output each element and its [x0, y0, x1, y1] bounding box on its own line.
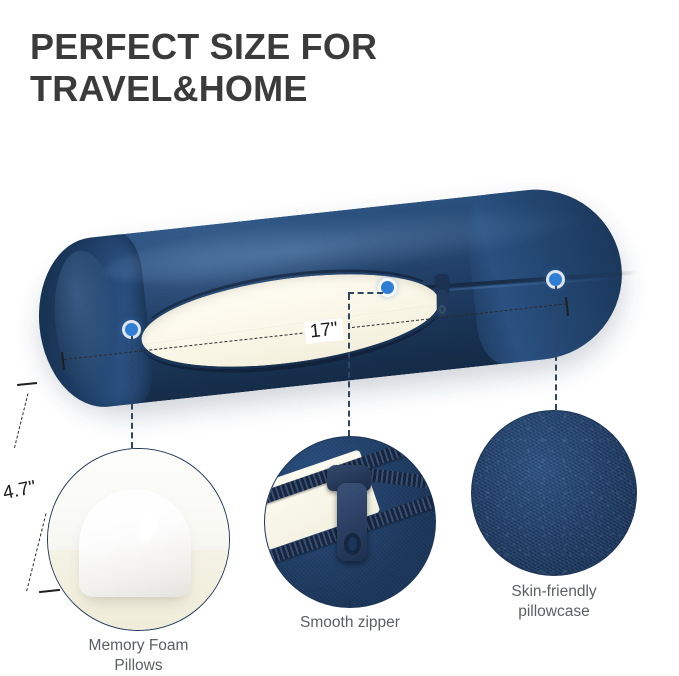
- callout-leader-memory-foam: [131, 336, 133, 448]
- callout-dot-memory-foam: [125, 323, 138, 336]
- fabric-fleck-overlay: [472, 411, 636, 575]
- width-dim-label: 17": [304, 318, 344, 344]
- callout-leader-zipper-elbow: [348, 292, 383, 294]
- zipper-pull-hole-icon: [344, 533, 361, 555]
- page-title-line-1: PERFECT SIZE FOR: [30, 26, 377, 67]
- callout-image-pillowcase: [471, 410, 637, 576]
- page-title-line-2: TRAVEL&HOME: [30, 68, 500, 110]
- callout-caption-pillowcase: Skin-friendly pillowcase: [471, 582, 637, 622]
- height-dim-label: 4.7": [0, 476, 43, 506]
- callout-caption-memory-foam: Memory Foam Pillows: [47, 636, 230, 676]
- height-dim-line-lower: [26, 513, 46, 591]
- foam-dome-icon: [79, 489, 191, 597]
- zipper-slider-icon: [429, 274, 455, 320]
- product-image-bolster-pillow: 17" 4.7": [0, 150, 679, 450]
- pillow-body: [31, 181, 631, 413]
- page-title: PERFECT SIZE FOR TRAVEL&HOME: [30, 26, 500, 110]
- callout-image-smooth-zipper: [264, 436, 436, 608]
- height-tick-top: [17, 382, 37, 386]
- callout-image-memory-foam: [47, 448, 230, 631]
- callout-dot-pillowcase: [549, 273, 562, 286]
- callout-leader-pillowcase: [555, 286, 557, 410]
- zipper-pull-hole: [439, 305, 446, 314]
- callout-caption-smooth-zipper: Smooth zipper: [264, 613, 436, 633]
- height-dim-line-upper: [14, 393, 29, 448]
- callout-leader-smooth-zipper: [348, 294, 350, 436]
- infographic-canvas: PERFECT SIZE FOR TRAVEL&HOME: [0, 0, 679, 672]
